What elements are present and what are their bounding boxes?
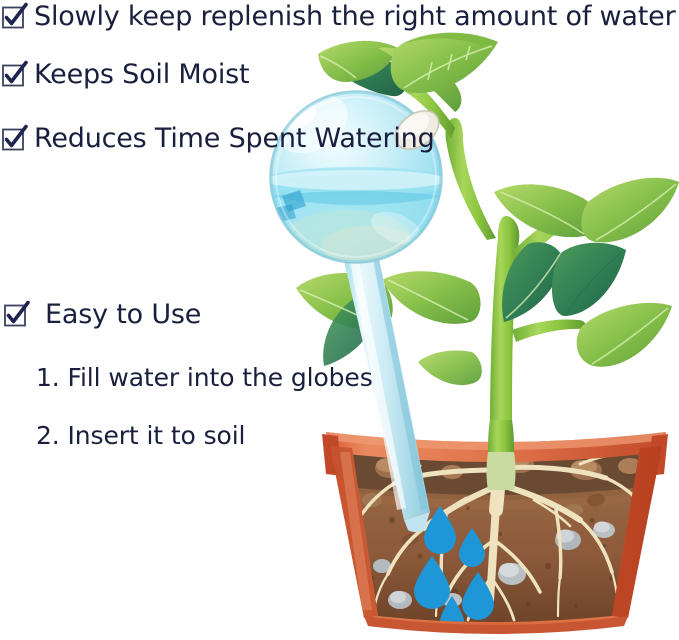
feature-text-layer: Slowly keep replenish the right amount o… (0, 0, 679, 640)
checkbox-checked-icon (2, 64, 25, 87)
checkbox-checked-icon (2, 128, 25, 151)
feature-label: Keeps Soil Moist (34, 58, 249, 92)
step-item-1: 1. Fill water into the globes (36, 362, 373, 394)
checkbox-checked-icon (2, 6, 25, 29)
feature-item-2: Reduces Time Spent Watering (2, 122, 435, 156)
feature-label: Reduces Time Spent Watering (34, 122, 435, 156)
feature-item-3: Easy to Use (4, 298, 201, 332)
feature-label: Slowly keep replenish the right amount o… (34, 0, 675, 34)
feature-label: Easy to Use (45, 298, 201, 332)
feature-item-1: Keeps Soil Moist (2, 58, 249, 92)
infographic-canvas: Slowly keep replenish the right amount o… (0, 0, 679, 640)
step-item-2: 2. Insert it to soil (36, 420, 245, 452)
checkbox-checked-icon (4, 304, 27, 327)
feature-item-0: Slowly keep replenish the right amount o… (2, 0, 675, 34)
